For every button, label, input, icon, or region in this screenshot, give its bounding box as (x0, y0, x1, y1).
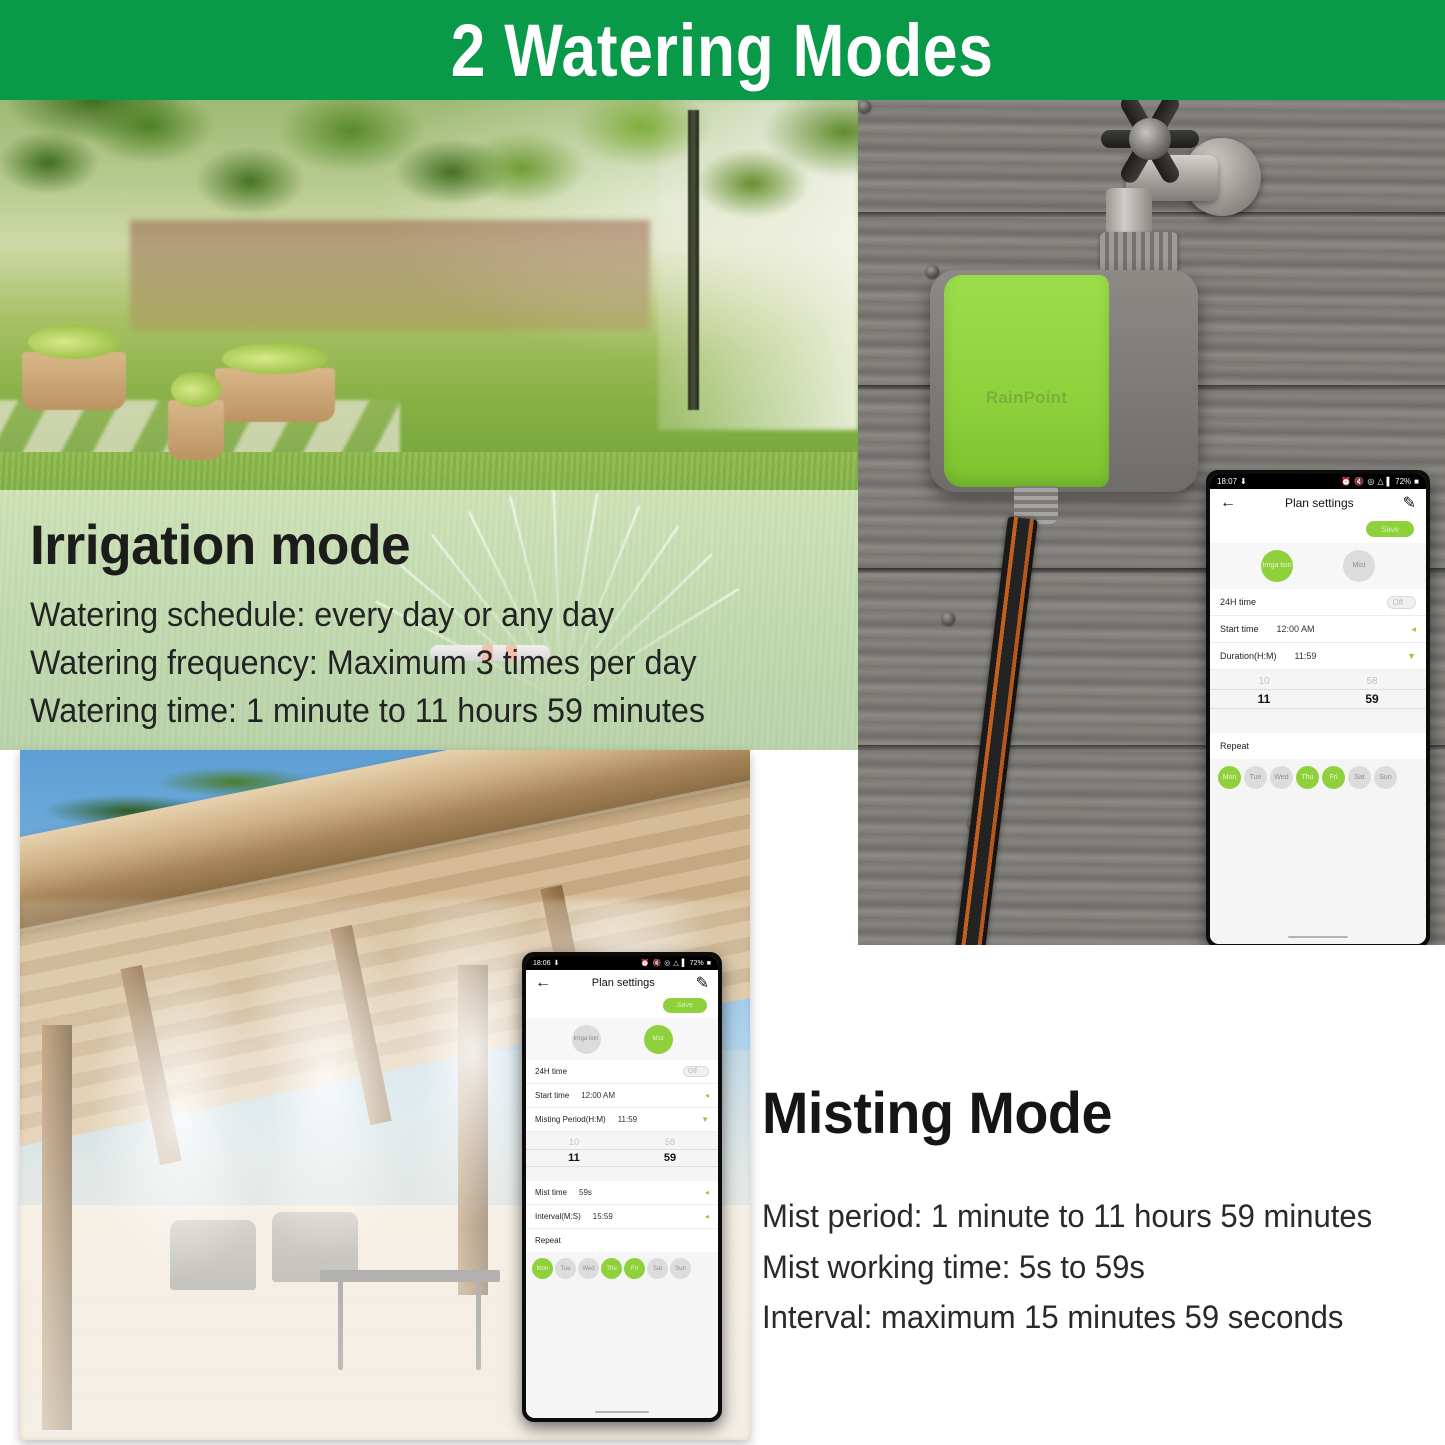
spinner-gap (526, 1169, 718, 1181)
spinner-row-dim: 10 58 (1210, 674, 1426, 689)
alarm-icon: ⏰ (641, 959, 650, 967)
irrigation-spec-item: Watering time: 1 minute to 11 hours 59 m… (30, 687, 817, 735)
mode-selector: Irriga tion Mist (1210, 543, 1426, 589)
misting-photo: 18:06 ⬇ ⏰ 🔇 ◎ △ ▌ 72% ■ ← Plan s (20, 750, 750, 1440)
home-indicator[interactable] (526, 1405, 718, 1418)
status-left: 18:06 ⬇ (533, 959, 559, 967)
back-arrow-icon[interactable]: ← (535, 974, 551, 992)
day-tue[interactable]: Tue (555, 1258, 576, 1279)
duration-spinner[interactable]: 10 58 11 59 (1210, 670, 1426, 733)
repeat-label: Repeat (526, 1229, 718, 1252)
row-label: Duration(H:M) (1220, 651, 1277, 661)
infographic-page: 2 Watering Modes Irrigat (0, 0, 1445, 1445)
day-sat[interactable]: Sat (647, 1258, 668, 1279)
caret-left-icon[interactable]: ◂ (705, 1091, 709, 1100)
row-24h-time[interactable]: 24H time Off (526, 1060, 718, 1084)
back-arrow-icon[interactable]: ← (1220, 494, 1236, 512)
device-photo: RainPoint 18:07 ⬇ ⏰ 🔇 ◎ △ ▌ (858, 100, 1445, 945)
save-button[interactable]: Save (663, 998, 707, 1013)
row-label: Start time (535, 1091, 569, 1100)
row-label: Mist time (535, 1188, 567, 1197)
caret-down-icon[interactable]: ▼ (701, 1115, 709, 1124)
phone-empty-area (1210, 797, 1426, 930)
app-bar-title: Plan settings (1236, 496, 1403, 510)
spinner-hours-prev: 10 (526, 1137, 622, 1147)
row-value: 11:59 (1295, 651, 1317, 661)
status-time: 18:06 (533, 960, 551, 967)
app-bar: ← Plan settings ✎ (1210, 489, 1426, 517)
day-wed[interactable]: Wed (578, 1258, 599, 1279)
mode-pill-mist[interactable]: Mist (644, 1025, 673, 1054)
page-title: 2 Watering Modes (451, 8, 994, 93)
row-label: 24H time (535, 1067, 567, 1076)
misting-spec-item: Interval: maximum 15 minutes 59 seconds (762, 1292, 1412, 1343)
photo-planter-pot (22, 352, 126, 410)
app-bar: ← Plan settings ✎ (526, 970, 718, 995)
row-24h-time[interactable]: 24H time Off (1210, 589, 1426, 616)
spinner-minutes-prev: 58 (1318, 676, 1426, 687)
caret-down-icon[interactable]: ▼ (1407, 651, 1416, 661)
battery-percent: 72% (690, 960, 704, 967)
status-right: ⏰ 🔇 ◎ △ ▌ 72% ■ (1341, 477, 1419, 486)
battery-icon: ■ (707, 960, 711, 967)
misting-text-block: Misting Mode Mist period: 1 minute to 11… (762, 1080, 1432, 1343)
download-icon: ⬇ (1240, 477, 1247, 486)
misting-spec-list: Mist period: 1 minute to 11 hours 59 min… (762, 1191, 1432, 1343)
mode-pill-irrigation[interactable]: Irriga tion (1261, 550, 1293, 582)
battery-percent: 72% (1395, 477, 1411, 486)
mute-icon: 🔇 (1354, 477, 1364, 486)
row-value: 15:59 (593, 1212, 613, 1221)
download-icon: ⬇ (554, 959, 560, 967)
caret-left-icon[interactable]: ◂ (1411, 624, 1416, 635)
spinner-row-selected: 11 59 (526, 1150, 718, 1166)
row-value: 59s (579, 1188, 592, 1197)
day-fri[interactable]: Fri (1322, 766, 1345, 789)
home-indicator[interactable] (1210, 930, 1426, 944)
garden-hose (954, 516, 1037, 945)
spinner-hours-selected: 11 (526, 1152, 622, 1164)
caret-left-icon[interactable]: ◂ (705, 1188, 709, 1197)
caret-left-icon[interactable]: ◂ (705, 1212, 709, 1221)
alarm-icon: ⏰ (1341, 477, 1351, 486)
irrigation-heading: Irrigation mode (30, 516, 817, 575)
day-tue[interactable]: Tue (1244, 766, 1267, 789)
row-label: 24H time (1220, 597, 1256, 607)
spinner-hours-selected: 11 (1210, 692, 1318, 706)
row-misting-period[interactable]: Misting Period(H:M) 11:59 ▼ (526, 1108, 718, 1132)
photo-tree-trunk (688, 110, 699, 410)
water-timer-device: RainPoint (930, 270, 1198, 492)
wood-screw (942, 612, 955, 625)
row-start-time[interactable]: Start time 12:00 AM ◂ (1210, 616, 1426, 643)
row-label: Interval(M:S) (535, 1212, 581, 1221)
spinner-row-selected: 11 59 (1210, 690, 1426, 708)
day-sat[interactable]: Sat (1348, 766, 1371, 789)
day-wed[interactable]: Wed (1270, 766, 1293, 789)
battery-icon: ■ (1414, 477, 1419, 486)
phone-screen: 18:06 ⬇ ⏰ 🔇 ◎ △ ▌ 72% ■ ← Plan s (526, 956, 718, 1418)
toggle-24h-time[interactable]: Off (1387, 596, 1416, 609)
irrigation-photo: Irrigation mode Watering schedule: every… (0, 100, 858, 750)
save-row: Save (1210, 517, 1426, 543)
phone-empty-area (526, 1286, 718, 1405)
header-banner: 2 Watering Modes (0, 0, 1445, 100)
irrigation-spec-list: Watering schedule: every day or any day … (30, 591, 858, 736)
status-right: ⏰ 🔇 ◎ △ ▌ 72% ■ (641, 959, 711, 967)
spinner-minutes-selected: 59 (1318, 692, 1426, 706)
save-row: Save (526, 995, 718, 1018)
misting-heading: Misting Mode (762, 1080, 1405, 1147)
row-value: 12:00 AM (1277, 624, 1315, 634)
app-bar-title: Plan settings (551, 977, 696, 989)
day-thu[interactable]: Thu (601, 1258, 622, 1279)
wifi-icon: △ (1377, 477, 1383, 486)
day-sun[interactable]: Sun (1374, 766, 1397, 789)
repeat-days: Mon Tue Wed Thu Fri Sat Sun (526, 1252, 718, 1286)
wifi-icon: △ (673, 959, 678, 967)
wood-screw (926, 265, 939, 278)
irrigation-text-panel: Irrigation mode Watering schedule: every… (0, 490, 858, 750)
row-duration[interactable]: Duration(H:M) 11:59 ▼ (1210, 643, 1426, 670)
misting-spec-item: Mist period: 1 minute to 11 hours 59 min… (762, 1191, 1412, 1242)
mode-selector: Irriga tion Mist (526, 1018, 718, 1060)
edit-pencil-icon[interactable]: ✎ (1403, 493, 1416, 513)
toggle-24h-time[interactable]: Off (683, 1066, 709, 1077)
mute-icon: 🔇 (653, 959, 662, 967)
signal-icon: ▌ (1386, 477, 1392, 486)
status-bar: 18:06 ⬇ ⏰ 🔇 ◎ △ ▌ 72% ■ (526, 956, 718, 970)
irrigation-spec-item: Watering frequency: Maximum 3 times per … (30, 639, 817, 687)
day-fri[interactable]: Fri (624, 1258, 645, 1279)
row-interval[interactable]: Interval(M:S) 15:59 ◂ (526, 1205, 718, 1229)
misting-period-spinner[interactable]: 10 58 11 59 (526, 1132, 718, 1169)
edit-pencil-icon[interactable]: ✎ (696, 973, 709, 993)
mode-pill-irrigation[interactable]: Irriga tion (572, 1025, 601, 1054)
irrigation-spec-item: Watering schedule: every day or any day (30, 591, 817, 639)
signal-icon: ▌ (682, 960, 687, 967)
row-start-time[interactable]: Start time 12:00 AM ◂ (526, 1084, 718, 1108)
status-left: 18:07 ⬇ (1217, 477, 1247, 486)
mode-pill-mist[interactable]: Mist (1343, 550, 1375, 582)
day-mon[interactable]: Mon (532, 1258, 553, 1279)
row-value: 12:00 AM (581, 1091, 615, 1100)
wood-screw (858, 100, 871, 113)
status-bar: 18:07 ⬇ ⏰ 🔇 ◎ △ ▌ 72% ■ (1210, 474, 1426, 489)
spinner-minutes-prev: 58 (622, 1137, 718, 1147)
row-label: Misting Period(H:M) (535, 1115, 606, 1124)
row-label: Start time (1220, 624, 1259, 634)
day-mon[interactable]: Mon (1218, 766, 1241, 789)
location-icon: ◎ (664, 959, 670, 967)
row-mist-time[interactable]: Mist time 59s ◂ (526, 1181, 718, 1205)
phone-irrigation-mockup: 18:07 ⬇ ⏰ 🔇 ◎ △ ▌ 72% ■ ← Plan s (1206, 470, 1430, 945)
photo-planter-pot (215, 368, 335, 422)
spinner-hours-prev: 10 (1210, 676, 1318, 687)
phone-misting-mockup: 18:06 ⬇ ⏰ 🔇 ◎ △ ▌ 72% ■ ← Plan s (522, 952, 722, 1422)
day-thu[interactable]: Thu (1296, 766, 1319, 789)
misting-spec-item: Mist working time: 5s to 59s (762, 1242, 1412, 1293)
save-button[interactable]: Save (1366, 521, 1414, 537)
photo-tree-canopy-right (430, 100, 858, 350)
phone-screen: 18:07 ⬇ ⏰ 🔇 ◎ △ ▌ 72% ■ ← Plan s (1210, 474, 1426, 944)
spinner-minutes-selected: 59 (622, 1152, 718, 1164)
day-sun[interactable]: Sun (670, 1258, 691, 1279)
spinner-row-dim: 10 58 (526, 1135, 718, 1149)
spigot-handle (1096, 104, 1204, 174)
repeat-days: Mon Tue Wed Thu Fri Sat Sun (1210, 759, 1426, 797)
repeat-label: Repeat (1210, 733, 1426, 759)
location-icon: ◎ (1367, 477, 1374, 486)
row-value: 11:59 (618, 1115, 637, 1124)
hose-coupler (1100, 232, 1178, 274)
photo-planter-pot (168, 400, 224, 460)
status-time: 18:07 (1217, 477, 1237, 486)
rainpoint-logo: RainPoint (986, 388, 1067, 408)
device-front-panel: RainPoint (944, 275, 1109, 487)
